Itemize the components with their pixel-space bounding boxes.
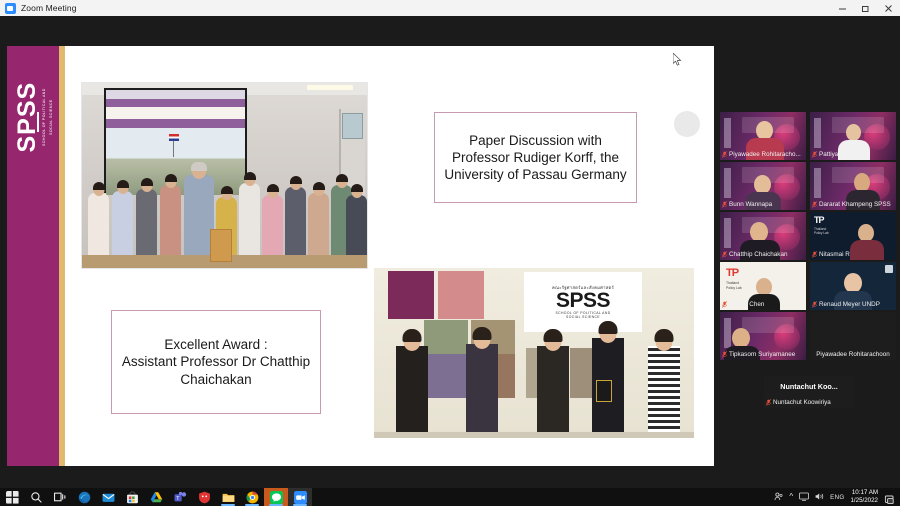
close-button[interactable]: [877, 0, 900, 16]
window-controls: [831, 0, 900, 16]
participant-gallery: Piyawadee Rohitaracho... Pattiya: [720, 112, 896, 418]
participant-name: Piyawadee Rohitarachoon: [816, 351, 890, 358]
mic-muted-icon: [812, 151, 817, 158]
thailand-policy-lab-logo: TP: [726, 268, 738, 279]
participant-name-row: Dararat Khampeng SPSS: [810, 199, 896, 210]
window-title: Zoom Meeting: [21, 3, 77, 13]
clock-date: 1/25/2022: [850, 497, 878, 505]
participant-tile[interactable]: Piyawadee Rohitaracho...: [720, 112, 806, 160]
participant-name-row: Tipkasorn Suriyamanee: [720, 349, 806, 360]
solo-participant-display-name: Nuntachut Koo...: [764, 382, 854, 391]
participant-name-row: Nuntachut Koowiriya: [764, 397, 854, 408]
participant-name: Pattiya: [819, 151, 838, 158]
group-photo: [81, 82, 368, 269]
spss-acronym: SPSS: [15, 68, 40, 166]
slide-decorative-circle: [674, 111, 700, 137]
participant-name: Tiffany Chen: [729, 301, 764, 308]
participant-name-row: Piyawadee Rohitarachoon: [810, 349, 896, 360]
thailand-policy-lab-logo: TP: [814, 216, 824, 225]
slide-award-line-1: Excellent Award :: [122, 336, 310, 353]
participant-name: Tipkasorn Suriyamanee: [729, 351, 795, 358]
chrome-app[interactable]: [240, 488, 264, 506]
participant-tile[interactable]: Tipkasorn Suriyamanee: [720, 312, 806, 360]
windows-taskbar: T ^ ENG 10:17 AM 1/25: [0, 488, 900, 506]
participant-name-row: Tiffany Chen: [720, 299, 806, 310]
slide-award-line-3: Chaichakan: [122, 371, 310, 388]
antivirus-app[interactable]: [192, 488, 216, 506]
participant-name-row: Pattiya: [810, 149, 896, 160]
participant-tile[interactable]: Renaud Meyer UNDP: [810, 262, 896, 310]
participant-name-row: Chatthip Chaichakan: [720, 249, 806, 260]
spss-wall-acronym: SPSS: [556, 291, 610, 311]
store-app[interactable]: [120, 488, 144, 506]
slide-title-line-3: University of Passau Germany: [444, 166, 626, 183]
notification-icon[interactable]: [884, 492, 895, 503]
participant-tile-solo[interactable]: Nuntachut Koo... Nuntachut Koowiriya: [764, 376, 854, 408]
teams-app[interactable]: T: [168, 488, 192, 506]
line-app[interactable]: [264, 488, 288, 506]
mic-muted-icon: [722, 351, 727, 358]
slide-title-line-1: Paper Discussion with: [444, 132, 626, 149]
participant-name: Bunn Wannapa: [729, 201, 772, 208]
participant-name-row: Nitasmai R: [810, 249, 896, 260]
mail-app[interactable]: [96, 488, 120, 506]
zoom-icon: [5, 3, 16, 14]
taskbar-items: T: [0, 488, 312, 506]
google-drive-app[interactable]: [144, 488, 168, 506]
spss-logo: SPSS SCHOOL OF POLITICAL AND SOCIAL SCIE…: [15, 68, 53, 166]
participant-name: Chatthip Chaichakan: [729, 251, 787, 258]
task-view-button[interactable]: [48, 488, 72, 506]
minimize-button[interactable]: [831, 0, 854, 16]
file-explorer-app[interactable]: [216, 488, 240, 506]
participant-tile[interactable]: Bunn Wannapa: [720, 162, 806, 210]
spss-wall-sub-2: SOCIAL SCIENCE: [566, 315, 600, 319]
slide-title-line-2: Professor Rudiger Korff, the: [444, 149, 626, 166]
window-title-bar: Zoom Meeting: [0, 0, 900, 16]
participant-name: Nitasmai R: [819, 251, 850, 258]
participant-name: Piyawadee Rohitaracho...: [729, 151, 801, 158]
mic-muted-icon: [722, 151, 727, 158]
chevron-up-icon[interactable]: ^: [789, 493, 793, 501]
shared-screen-slide[interactable]: SPSS SCHOOL OF POLITICAL AND SOCIAL SCIE…: [7, 46, 714, 466]
slide-title-textbox: Paper Discussion with Professor Rudiger …: [434, 112, 637, 203]
restore-button[interactable]: [854, 0, 877, 16]
people-icon[interactable]: [774, 492, 783, 503]
monitor-icon[interactable]: [799, 492, 809, 503]
mic-muted-icon: [722, 251, 727, 258]
search-button[interactable]: [24, 488, 48, 506]
speaker-icon[interactable]: [815, 492, 824, 503]
participant-name: Nuntachut Koowiriya: [773, 399, 831, 406]
slide-accent-stripe: [59, 46, 65, 466]
language-indicator[interactable]: ENG: [830, 494, 844, 501]
clock[interactable]: 10:17 AM 1/25/2022: [850, 489, 878, 506]
spss-subtitle-2: SOCIAL SCIENCE: [49, 68, 54, 166]
slide-award-line-2: Assistant Professor Dr Chatthip: [122, 353, 310, 370]
participant-name-row: Renaud Meyer UNDP: [810, 299, 896, 310]
edge-app[interactable]: [72, 488, 96, 506]
mic-muted-icon: [722, 201, 727, 208]
participant-tile[interactable]: TP ThailandPolicy Lab Tiffany Chen: [720, 262, 806, 310]
svg-text:T: T: [176, 495, 180, 501]
participant-name-row: Bunn Wannapa: [720, 199, 806, 210]
meeting-stage: SPSS SCHOOL OF POLITICAL AND SOCIAL SCIE…: [0, 16, 900, 488]
participant-tile-active-speaker[interactable]: Piyawadee Rohi... Piyawadee Rohitarachoo…: [810, 312, 896, 360]
start-button[interactable]: [0, 488, 24, 506]
mic-muted-icon: [722, 301, 727, 308]
participant-name-row: Piyawadee Rohitaracho...: [720, 149, 806, 160]
participant-tile[interactable]: Chatthip Chaichakan: [720, 212, 806, 260]
participant-name: Renaud Meyer UNDP: [819, 301, 880, 308]
mic-muted-icon: [812, 301, 817, 308]
slide-award-textbox: Excellent Award : Assistant Professor Dr…: [111, 310, 321, 414]
participant-tile[interactable]: Pattiya: [810, 112, 896, 160]
system-tray: ^ ENG 10:17 AM 1/25/2022: [774, 489, 900, 506]
participant-tile[interactable]: TP ThailandPolicy Lab Nitasmai R: [810, 212, 896, 260]
participant-name: Dararat Khampeng SPSS: [819, 201, 891, 208]
mic-muted-icon: [812, 251, 817, 258]
mouse-cursor: [673, 53, 682, 66]
zoom-app[interactable]: [288, 488, 312, 506]
spss-subtitle-1: SCHOOL OF POLITICAL AND: [42, 68, 47, 166]
clock-time: 10:17 AM: [850, 489, 878, 497]
mic-muted-icon: [812, 201, 817, 208]
mic-muted-icon: [766, 399, 771, 406]
award-photo: คณะรัฐศาสตร์และสังคมศาสตร์ SPSS SCHOOL O…: [374, 268, 694, 438]
participant-tile[interactable]: Dararat Khampeng SPSS: [810, 162, 896, 210]
spss-wall-logo: คณะรัฐศาสตร์และสังคมศาสตร์ SPSS SCHOOL O…: [524, 272, 642, 332]
